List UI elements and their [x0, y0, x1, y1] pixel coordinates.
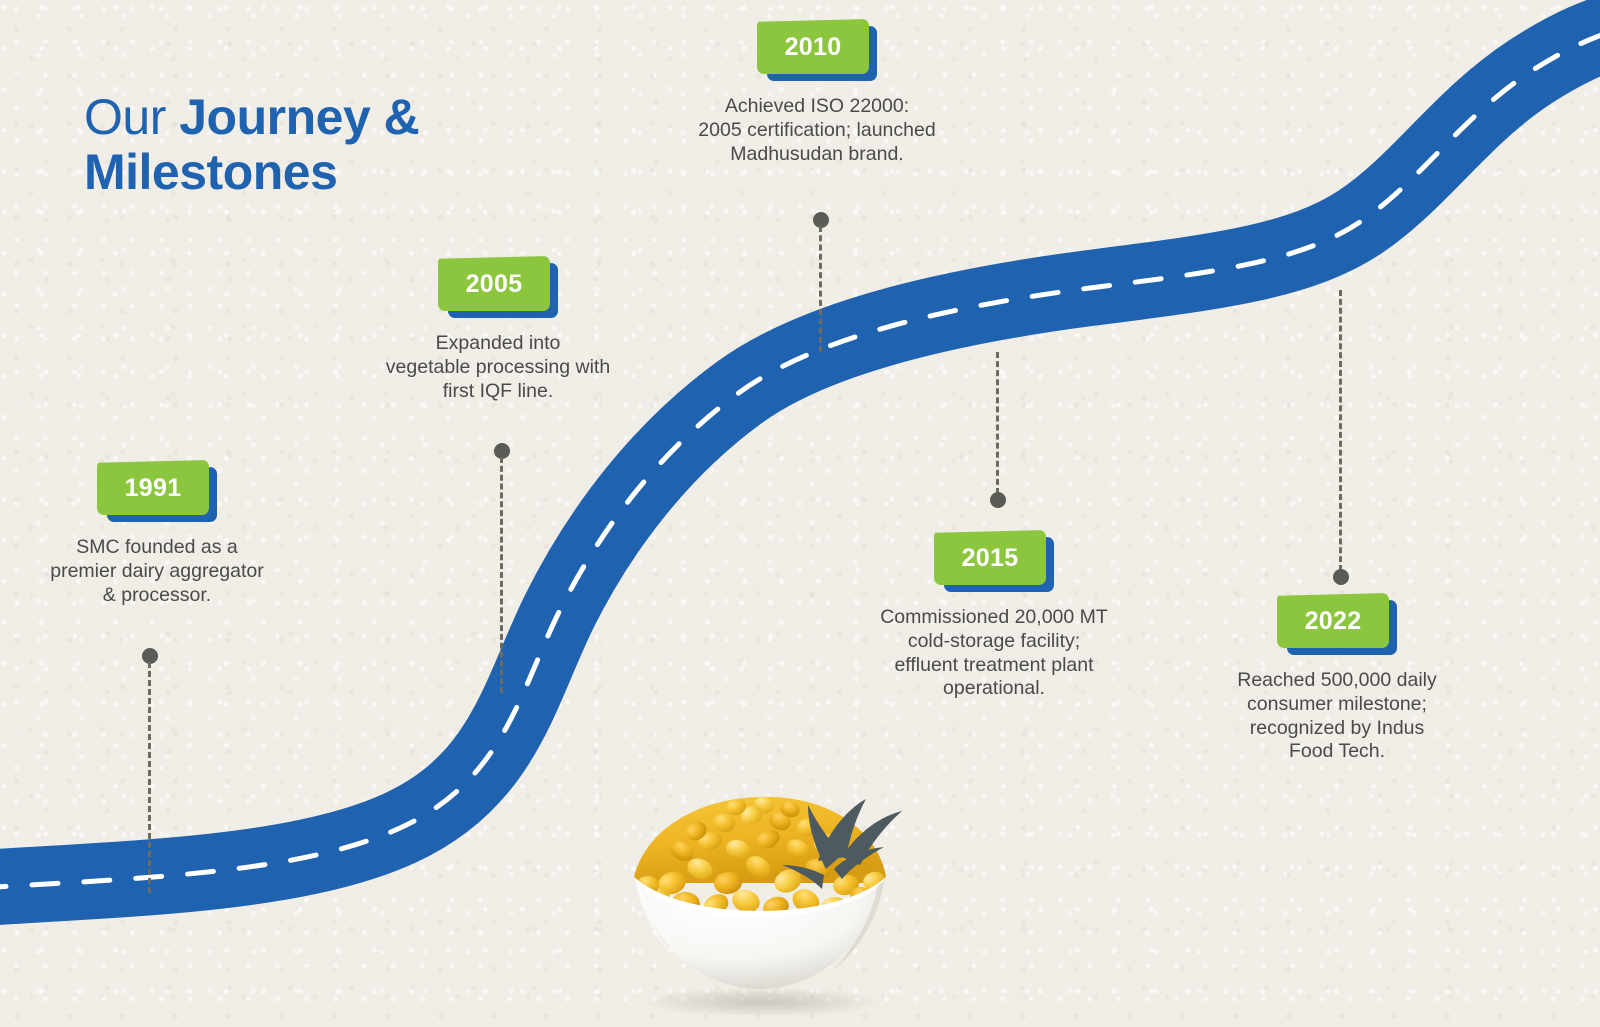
infographic-canvas: Our Journey & Milestones 1991 SMC founde…: [0, 0, 1600, 1027]
badge-face-1991: 1991: [97, 460, 209, 515]
connector-dash-2015: [996, 352, 999, 494]
connector-line-2005: [500, 443, 503, 693]
milestone-badge-2022[interactable]: 2022: [1277, 593, 1397, 655]
badge-face-2005: 2005: [438, 256, 550, 311]
bowl-body: [634, 877, 886, 989]
milestone-text-1991: SMC founded as a premier dairy aggregato…: [0, 536, 317, 607]
bowl-shading-left: [636, 881, 674, 957]
milestone-2005[interactable]: 2005 Expanded into vegetable processing …: [338, 256, 658, 403]
milestone-year-2015: 2015: [962, 546, 1019, 571]
milestone-2010[interactable]: 2010 Achieved ISO 22000: 2005 certificat…: [657, 19, 977, 166]
milestone-badge-2010[interactable]: 2010: [757, 19, 877, 81]
connector-dot-2022: [1333, 569, 1349, 585]
bowl-rim: [634, 877, 886, 917]
milestone-1991[interactable]: 1991 SMC founded as a premier dairy aggr…: [0, 460, 317, 607]
connector-line-2010: [819, 212, 822, 352]
bowl-shading-right: [832, 881, 884, 971]
badge-face-2022: 2022: [1277, 593, 1389, 648]
bowl-shadow: [642, 987, 882, 1015]
milestone-year-2022: 2022: [1305, 609, 1362, 634]
badge-face-2015: 2015: [934, 530, 1046, 585]
milestone-text-2010: Achieved ISO 22000: 2005 certification; …: [657, 95, 977, 166]
milestone-badge-1991[interactable]: 1991: [97, 460, 217, 522]
milestone-2022[interactable]: 2022 Reached 500,000 daily consumer mile…: [1177, 593, 1497, 764]
parsley-garnish: [782, 799, 902, 889]
milestone-year-1991: 1991: [125, 476, 182, 501]
milestone-2015[interactable]: 2015 Commissioned 20,000 MT cold-storage…: [834, 530, 1154, 701]
connector-dash-2022: [1339, 290, 1342, 571]
page-title: Our Journey & Milestones: [84, 90, 419, 200]
connector-dot-2015: [990, 492, 1006, 508]
connector-dash-2005: [500, 457, 503, 693]
corn-heap: [630, 793, 890, 920]
page-title-light: Our: [84, 89, 179, 145]
connector-dash-2010: [819, 226, 822, 352]
connector-line-1991: [148, 648, 151, 893]
milestone-badge-2005[interactable]: 2005: [438, 256, 558, 318]
corn-bowl-image: [612, 765, 907, 1015]
connector-dash-1991: [148, 662, 151, 893]
milestone-badge-2015[interactable]: 2015: [934, 530, 1054, 592]
milestone-text-2005: Expanded into vegetable processing with …: [338, 332, 658, 403]
milestone-year-2010: 2010: [785, 35, 842, 60]
connector-line-2015: [996, 352, 999, 508]
milestone-year-2005: 2005: [466, 272, 523, 297]
milestone-text-2022: Reached 500,000 daily consumer milestone…: [1177, 669, 1497, 764]
badge-face-2010: 2010: [757, 19, 869, 74]
milestone-text-2015: Commissioned 20,000 MT cold-storage faci…: [834, 606, 1154, 701]
connector-line-2022: [1339, 290, 1342, 585]
